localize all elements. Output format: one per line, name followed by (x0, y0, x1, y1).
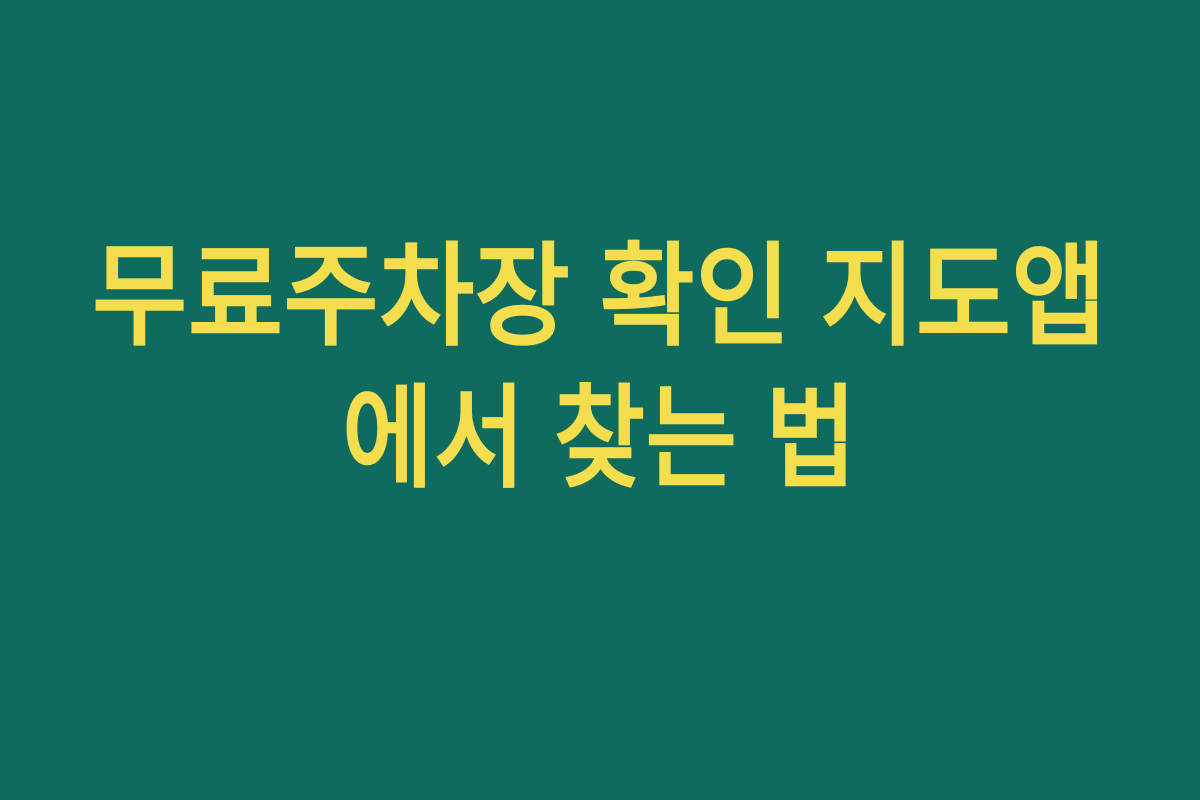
title-banner: 무료주차장 확인 지도앱 에서 찾는 법 (0, 0, 1200, 800)
page-title: 무료주차장 확인 지도앱 에서 찾는 법 (0, 0, 1200, 800)
title-line-2: 에서 찾는 법 (342, 383, 857, 495)
title-line-1: 무료주차장 확인 지도앱 (92, 241, 1107, 353)
